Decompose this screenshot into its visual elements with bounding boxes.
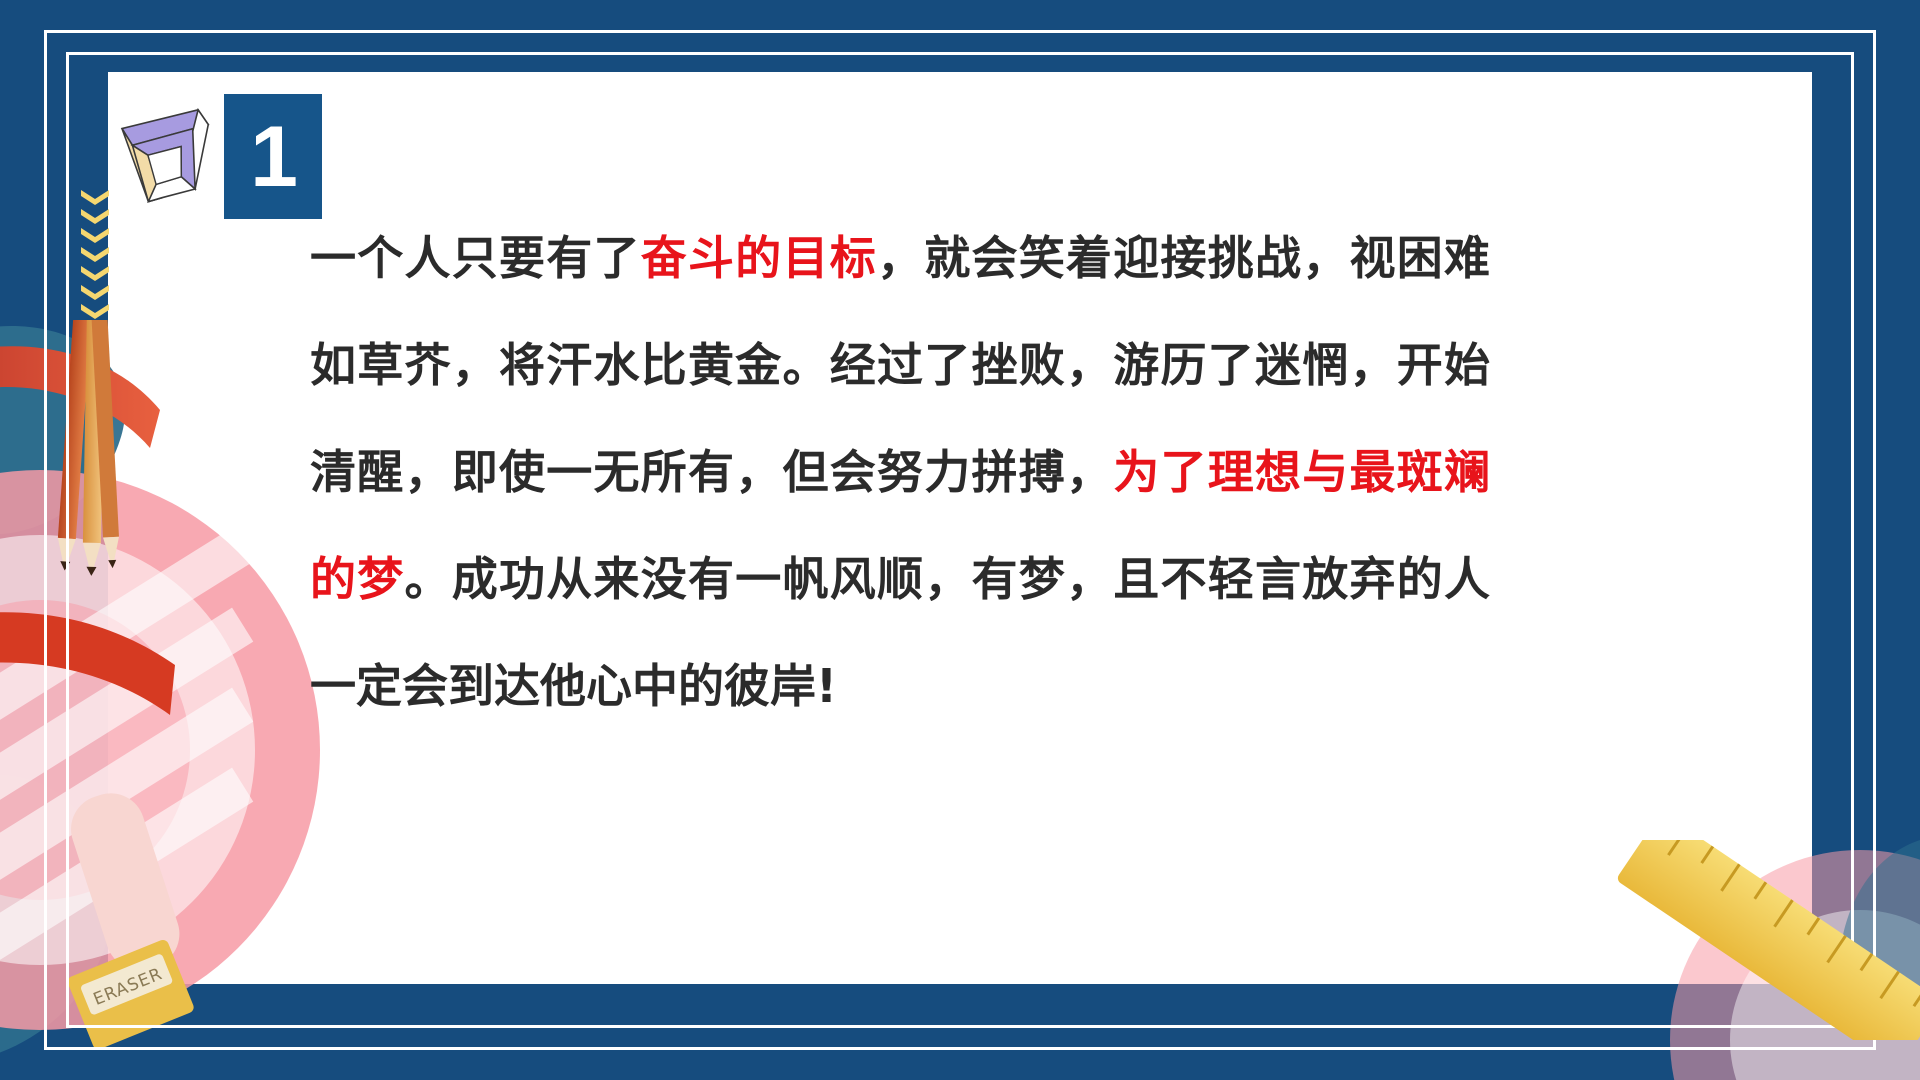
paragraph-segment-highlight-1: 奋斗的目标: [641, 231, 877, 285]
slide-paragraph: 一个人只要有了奋斗的目标，就会笑着迎接挑战，视困难如草芥，将汗水比黄金。经过了挫…: [310, 205, 1490, 740]
chevron-down-icon: [81, 190, 109, 205]
chevron-down-icon: [81, 247, 109, 262]
chevron-down-icon: [81, 285, 109, 300]
paragraph-segment-plain-1: 一个人只要有了: [310, 231, 641, 285]
chevron-down-icon: [81, 266, 109, 281]
chevron-down-icon: [81, 209, 109, 224]
section-number-badge: 1: [224, 94, 322, 219]
penrose-triangle-icon: [112, 100, 230, 208]
chevron-decoration-column: [78, 190, 112, 319]
chevron-down-icon: [81, 228, 109, 243]
chevron-down-icon: [81, 304, 109, 319]
paragraph-segment-plain-3: 。成功从来没有一帆风顺，有梦，且不轻言放弃的人一定会到达他心中的彼岸!: [310, 552, 1490, 713]
section-number-label: 1: [250, 114, 296, 200]
